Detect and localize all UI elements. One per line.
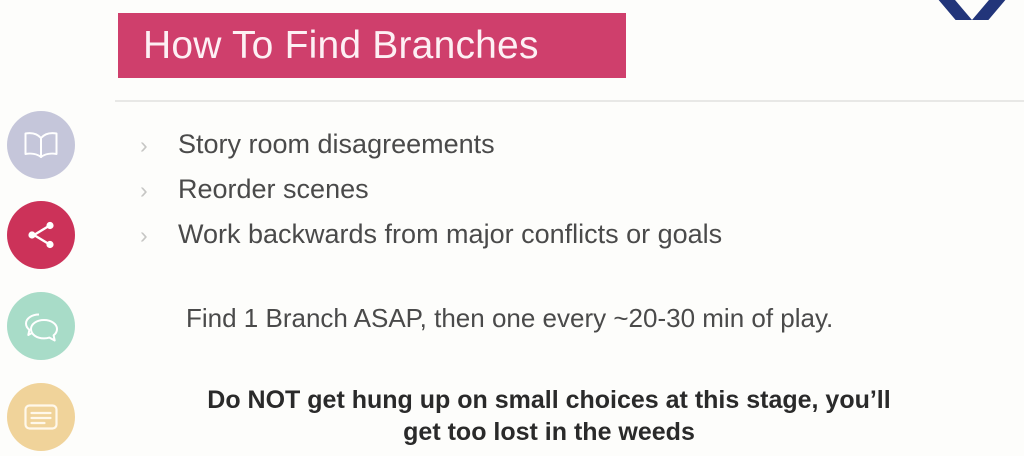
warning-line-2: get too lost in the weeds xyxy=(86,416,1012,448)
navy-chevron-decoration xyxy=(933,0,1011,20)
book-icon[interactable] xyxy=(7,111,75,179)
presentation-slide: How To Find Branches › Story room disagr… xyxy=(0,0,1024,456)
chevron-right-icon: › xyxy=(140,179,178,202)
bullet-list: › Story room disagreements › Reorder sce… xyxy=(140,131,960,266)
warning-line-1: Do NOT get hung up on small choices at t… xyxy=(86,384,1012,416)
list-item: › Work backwards from major conflicts or… xyxy=(140,221,960,266)
slide-title: How To Find Branches xyxy=(118,24,539,68)
list-item-label: Reorder scenes xyxy=(178,176,369,203)
article-lines-icon[interactable] xyxy=(7,383,75,451)
list-item: › Reorder scenes xyxy=(140,176,960,221)
chevron-right-icon: › xyxy=(140,224,178,247)
list-item-label: Work backwards from major conflicts or g… xyxy=(178,221,722,248)
chevron-right-icon: › xyxy=(140,134,178,157)
list-item-label: Story room disagreements xyxy=(178,131,495,158)
share-icon[interactable] xyxy=(7,201,75,269)
slide-title-banner: How To Find Branches xyxy=(118,13,626,78)
icon-rail xyxy=(0,0,86,456)
callout-text: Find 1 Branch ASAP, then one every ~20-3… xyxy=(186,303,833,334)
chat-bubbles-icon[interactable] xyxy=(7,292,75,360)
header-divider xyxy=(115,100,1024,102)
warning-text: Do NOT get hung up on small choices at t… xyxy=(86,384,1012,448)
list-item: › Story room disagreements xyxy=(140,131,960,176)
